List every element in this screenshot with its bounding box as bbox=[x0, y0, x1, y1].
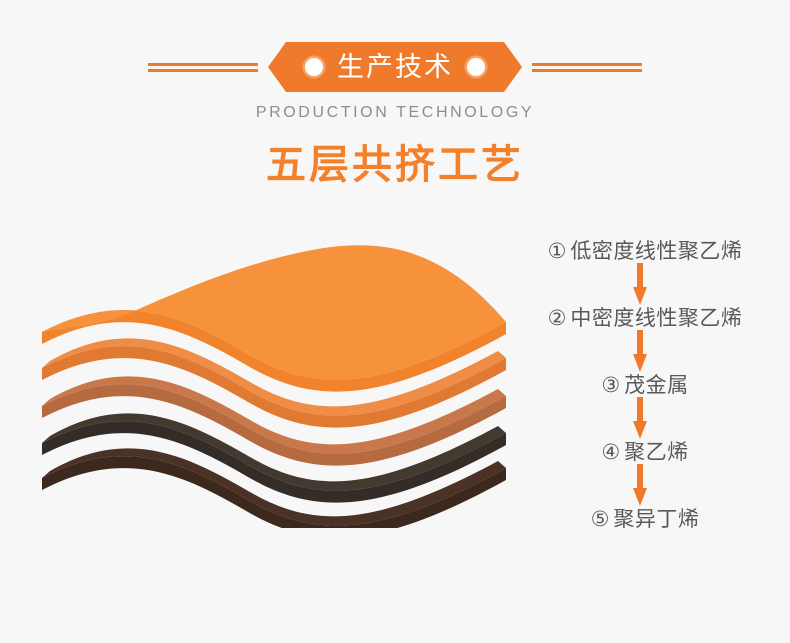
decorative-rule-left bbox=[148, 63, 258, 72]
arrow-down-icon bbox=[633, 330, 647, 372]
header-block: 生产技术 PRODUCTION TECHNOLOGY bbox=[0, 42, 790, 132]
section-title-text: 生产技术 bbox=[337, 54, 453, 81]
step-arrow-1 bbox=[500, 263, 790, 307]
stack-layer-1 bbox=[42, 245, 506, 391]
step-label-1: 低密度线性聚乙烯 bbox=[570, 240, 742, 263]
process-step-5: ⑤聚异丁烯 bbox=[500, 508, 790, 531]
section-title-banner: 生产技术 bbox=[268, 42, 522, 92]
page-root: 生产技术 PRODUCTION TECHNOLOGY 五层共挤工艺 bbox=[0, 0, 790, 643]
step-number-3: ③ bbox=[601, 374, 620, 397]
step-arrow-3 bbox=[500, 397, 790, 441]
step-arrow-2 bbox=[500, 330, 790, 374]
banner-row: 生产技术 bbox=[0, 42, 790, 92]
step-label-2: 中密度线性聚乙烯 bbox=[570, 307, 742, 330]
step-number-2: ② bbox=[548, 307, 567, 330]
circle-dot-icon-right bbox=[467, 58, 485, 76]
process-step-list: ①低密度线性聚乙烯 ②中密度线性聚乙烯 ③茂金属 ④聚乙烯 bbox=[500, 240, 790, 531]
arrow-down-icon bbox=[633, 397, 647, 439]
process-step-3: ③茂金属 bbox=[500, 374, 790, 397]
decorative-rule-right bbox=[532, 63, 642, 72]
process-step-2: ②中密度线性聚乙烯 bbox=[500, 307, 790, 330]
arrow-down-icon bbox=[633, 263, 647, 305]
step-number-4: ④ bbox=[601, 441, 620, 464]
arrow-down-icon bbox=[633, 464, 647, 506]
step-number-5: ⑤ bbox=[591, 508, 610, 531]
step-label-5: 聚异丁烯 bbox=[613, 508, 699, 531]
step-arrow-4 bbox=[500, 464, 790, 508]
process-step-1: ①低密度线性聚乙烯 bbox=[500, 240, 790, 263]
circle-dot-icon-left bbox=[305, 58, 323, 76]
section-subtitle: PRODUCTION TECHNOLOGY bbox=[0, 104, 790, 122]
layer-stack-illustration bbox=[36, 228, 516, 528]
step-number-1: ① bbox=[548, 240, 567, 263]
step-label-4: 聚乙烯 bbox=[624, 441, 689, 464]
process-step-4: ④聚乙烯 bbox=[500, 441, 790, 464]
page-title: 五层共挤工艺 bbox=[0, 145, 790, 185]
step-label-3: 茂金属 bbox=[624, 374, 689, 397]
